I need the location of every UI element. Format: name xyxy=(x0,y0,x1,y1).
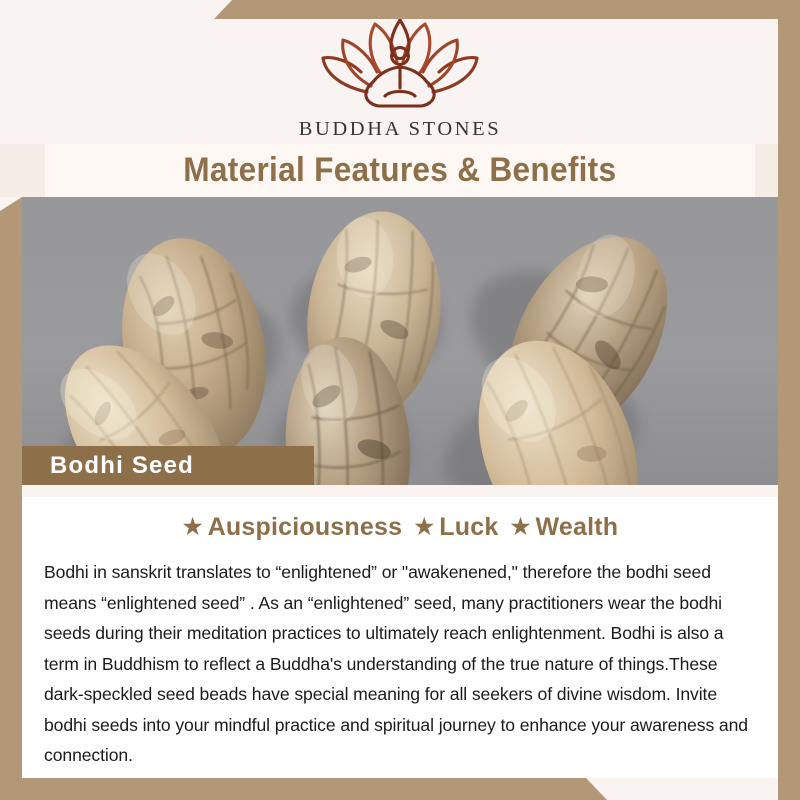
frame-bottom-border xyxy=(0,778,800,800)
header: BUDDHA STONES xyxy=(0,0,800,145)
benefit-auspiciousness: Auspiciousness xyxy=(206,513,405,541)
page-title: Material Features & Benefits xyxy=(183,151,616,190)
content-panel: ★Auspiciousness ★Luck ★Wealth Bodhi in s… xyxy=(22,485,778,778)
benefit-wealth: Wealth xyxy=(534,513,621,541)
seed-name-label: Bodhi Seed xyxy=(22,446,314,485)
brand-name: BUDDHA STONES xyxy=(0,118,800,141)
panel-top-strip xyxy=(22,485,778,497)
description-paragraph: Bodhi in sanskrit translates to “enlight… xyxy=(22,542,778,771)
star-icon: ★ xyxy=(180,514,206,539)
brand-logo: BUDDHA STONES xyxy=(0,14,800,141)
star-icon: ★ xyxy=(508,514,534,539)
poster-root: BUDDHA STONES Material Features & Benefi… xyxy=(0,0,800,800)
frame-right-border xyxy=(778,0,800,800)
lotus-meditation-icon xyxy=(0,14,800,115)
bodhi-seeds-photo xyxy=(22,197,778,485)
seed-name-text: Bodhi Seed xyxy=(22,452,194,480)
star-icon: ★ xyxy=(411,514,437,539)
title-band: Material Features & Benefits xyxy=(45,144,755,197)
frame-left-border xyxy=(0,197,22,800)
benefit-luck: Luck xyxy=(437,513,500,541)
